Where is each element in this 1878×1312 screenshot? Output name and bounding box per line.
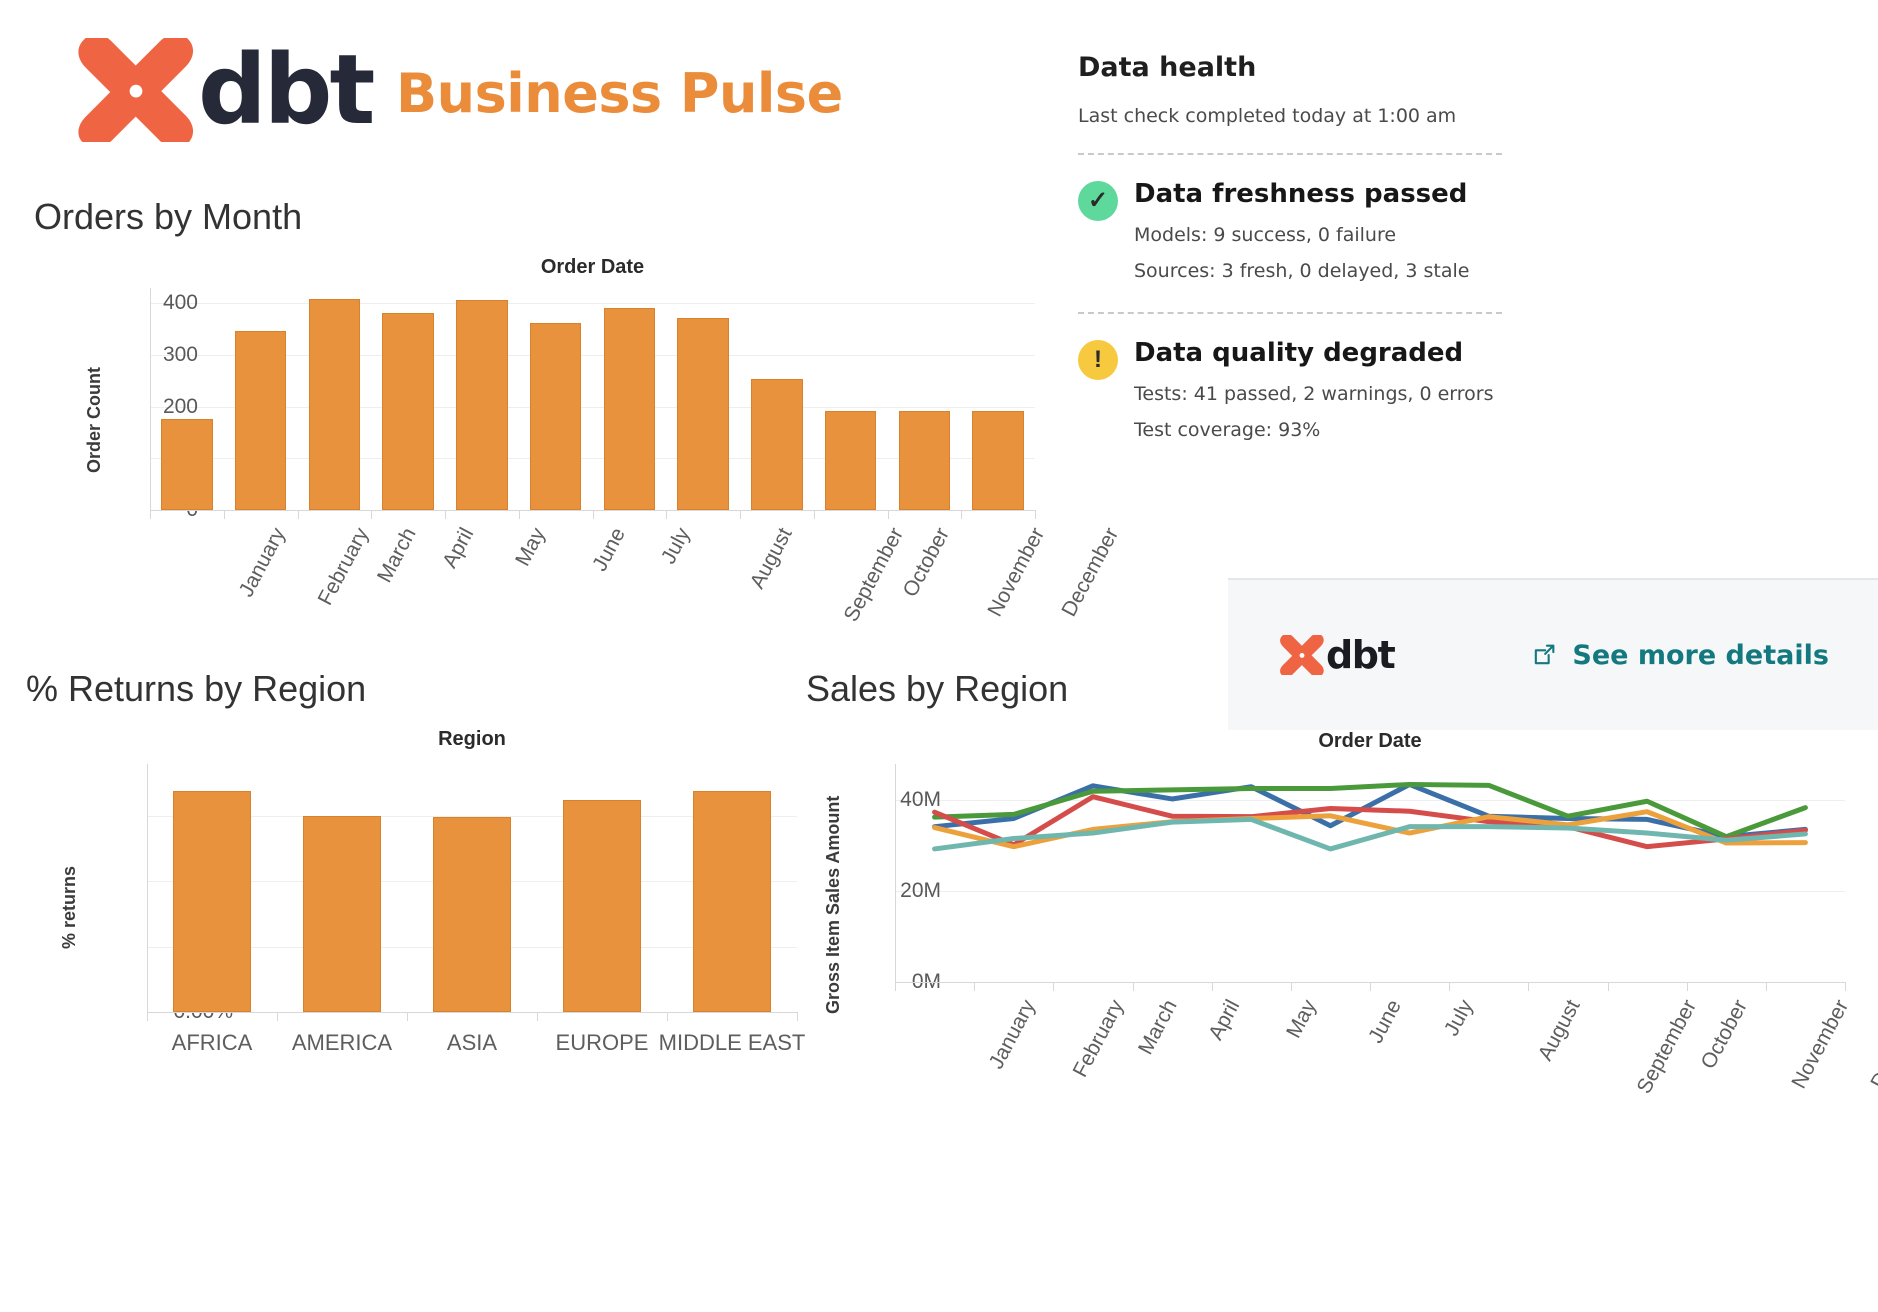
sales-chart-header: Order Date xyxy=(895,730,1845,753)
x-tick-label: April xyxy=(438,524,479,572)
bar xyxy=(530,323,582,510)
health-item-line: Sources: 3 fresh, 0 delayed, 3 stale xyxy=(1134,260,1469,282)
x-tickmark xyxy=(740,510,741,519)
x-tickmark xyxy=(445,510,446,519)
health-item-line: Tests: 41 passed, 2 warnings, 0 errors xyxy=(1134,383,1494,405)
x-tickmark xyxy=(797,1012,798,1021)
x-tick-label: June xyxy=(1365,996,1408,1047)
x-tick-label: July xyxy=(657,524,696,568)
external-link-icon xyxy=(1530,641,1558,669)
divider xyxy=(1078,312,1502,314)
bar xyxy=(303,816,381,1012)
bar xyxy=(899,411,951,510)
returns-by-region-chart: % returns0.00%2.00%4.00%6.00%AFRICAAMERI… xyxy=(147,764,797,1029)
x-tickmark xyxy=(371,510,372,519)
x-tick-label: August xyxy=(1533,996,1585,1065)
health-item-title: Data freshness passed xyxy=(1134,179,1469,210)
x-tickmark xyxy=(277,1012,278,1021)
sales-by-region-chart: Gross Item Sales Amount0M20M40MJanuaryFe… xyxy=(895,764,1845,1064)
x-tickmark xyxy=(1608,982,1609,991)
warning-circle-icon: ! xyxy=(1078,340,1118,380)
bar xyxy=(433,817,511,1012)
x-tickmark xyxy=(150,510,151,519)
x-tickmark xyxy=(593,510,594,519)
x-tick-label: January xyxy=(984,996,1040,1073)
orders-chart-header: Order Date xyxy=(150,256,1035,279)
x-tick-label: June xyxy=(588,524,631,575)
returns-by-region-section: % Returns by Region Region % returns0.00… xyxy=(22,668,822,1298)
y-tick-label: 400 xyxy=(138,291,198,315)
x-tickmark xyxy=(147,1012,148,1021)
x-tick-label: February xyxy=(313,524,374,609)
x-tick-label: AFRICA xyxy=(172,1030,253,1056)
y-axis-label: Order Count xyxy=(84,367,105,473)
health-item-line: Test coverage: 93% xyxy=(1134,419,1494,441)
x-tickmark xyxy=(1035,510,1036,519)
x-tickmark xyxy=(814,510,815,519)
sales-by-region-section: Sales by Region Order Date Gross Item Sa… xyxy=(800,668,1878,1298)
bar xyxy=(563,800,641,1012)
x-tickmark xyxy=(519,510,520,519)
health-item-title: Data quality degraded xyxy=(1134,338,1494,369)
x-tick-label: March xyxy=(1134,996,1183,1059)
check-circle-icon: ✓ xyxy=(1078,181,1118,221)
x-tick-label: EUROPE xyxy=(556,1030,649,1056)
y-axis-line xyxy=(147,764,148,1012)
bar xyxy=(309,299,361,510)
x-axis-line xyxy=(147,1012,797,1013)
y-tick-label: 300 xyxy=(138,343,198,367)
orders-by-month-section: Orders by Month Order Date Order Count01… xyxy=(30,196,1060,646)
x-tickmark xyxy=(961,510,962,519)
x-tick-label: February xyxy=(1068,996,1129,1081)
x-tick-label: July xyxy=(1439,996,1478,1040)
dbt-logo: dbt xyxy=(78,38,372,142)
bar xyxy=(604,308,656,510)
x-tickmark xyxy=(298,510,299,519)
bar xyxy=(456,300,508,510)
x-tick-label: MIDDLE EAST xyxy=(659,1030,806,1056)
x-tick-label: AMERICA xyxy=(292,1030,392,1056)
x-tick-label: May xyxy=(511,524,551,570)
bar xyxy=(825,411,877,510)
x-tickmark xyxy=(1370,982,1371,991)
x-tickmark xyxy=(1528,982,1529,991)
gridline xyxy=(150,303,1035,304)
x-tickmark xyxy=(1053,982,1054,991)
x-tickmark xyxy=(224,510,225,519)
see-more-details-label: See more details xyxy=(1572,640,1829,671)
x-tick-label: December xyxy=(1058,524,1125,621)
x-tick-label: November xyxy=(984,524,1051,621)
x-tick-label: January xyxy=(235,524,291,601)
x-tickmark xyxy=(1212,982,1213,991)
x-tickmark xyxy=(667,1012,668,1021)
x-tickmark xyxy=(1687,982,1688,991)
x-tickmark xyxy=(1845,982,1846,991)
x-tick-label: September xyxy=(1632,996,1701,1098)
section-title-sales: Sales by Region xyxy=(806,668,1068,710)
x-tick-label: ASIA xyxy=(447,1030,497,1056)
bar xyxy=(161,419,213,510)
line-series-group xyxy=(895,764,1845,982)
dbt-wordmark: dbt xyxy=(198,42,372,138)
x-tick-label: August xyxy=(746,524,798,593)
see-more-details-link[interactable]: See more details xyxy=(1530,640,1829,671)
x-tickmark xyxy=(537,1012,538,1021)
bar xyxy=(751,379,803,510)
x-tickmark xyxy=(888,510,889,519)
y-tick-label: 200 xyxy=(138,395,198,419)
x-tickmark xyxy=(1133,982,1134,991)
page-title: Business Pulse xyxy=(396,62,843,125)
section-title-returns: % Returns by Region xyxy=(26,668,366,710)
x-tick-label: April xyxy=(1204,996,1245,1044)
bar xyxy=(972,411,1024,510)
orders-by-month-chart: Order Count0100200300400JanuaryFebruaryM… xyxy=(150,288,1035,700)
divider xyxy=(1078,153,1502,155)
y-axis-label: % returns xyxy=(59,866,80,949)
x-tickmark xyxy=(666,510,667,519)
x-tickmark xyxy=(1766,982,1767,991)
dbt-x-logo-icon xyxy=(78,38,194,142)
bar xyxy=(693,791,771,1012)
data-health-title: Data health xyxy=(1078,52,1878,83)
section-title-orders: Orders by Month xyxy=(34,196,302,238)
bar xyxy=(382,313,434,510)
health-item-quality: ! Data quality degraded Tests: 41 passed… xyxy=(1078,338,1878,441)
x-tick-label: May xyxy=(1282,996,1322,1042)
exclamation-glyph: ! xyxy=(1094,348,1102,372)
x-tickmark xyxy=(1291,982,1292,991)
x-tickmark xyxy=(895,982,896,991)
returns-chart-header: Region xyxy=(147,728,797,751)
data-health-panel: Data health Last check completed today a… xyxy=(1078,52,1878,441)
data-health-subtitle: Last check completed today at 1:00 am xyxy=(1078,105,1878,127)
x-tick-label: September xyxy=(839,524,908,626)
line-series-orange xyxy=(935,812,1806,847)
x-tickmark xyxy=(974,982,975,991)
x-tick-label: October xyxy=(1697,996,1753,1073)
health-item-freshness: ✓ Data freshness passed Models: 9 succes… xyxy=(1078,179,1878,282)
y-axis-label: Gross Item Sales Amount xyxy=(823,796,844,1014)
x-tick-label: March xyxy=(373,524,422,587)
y-axis-line xyxy=(150,288,151,510)
bar xyxy=(677,318,729,510)
bar xyxy=(235,331,287,510)
x-tick-label: December xyxy=(1867,996,1878,1093)
bar xyxy=(173,791,251,1012)
check-glyph: ✓ xyxy=(1088,189,1108,213)
x-tick-label: November xyxy=(1788,996,1855,1093)
health-item-line: Models: 9 success, 0 failure xyxy=(1134,224,1469,246)
x-tickmark xyxy=(1449,982,1450,991)
x-tickmark xyxy=(407,1012,408,1021)
